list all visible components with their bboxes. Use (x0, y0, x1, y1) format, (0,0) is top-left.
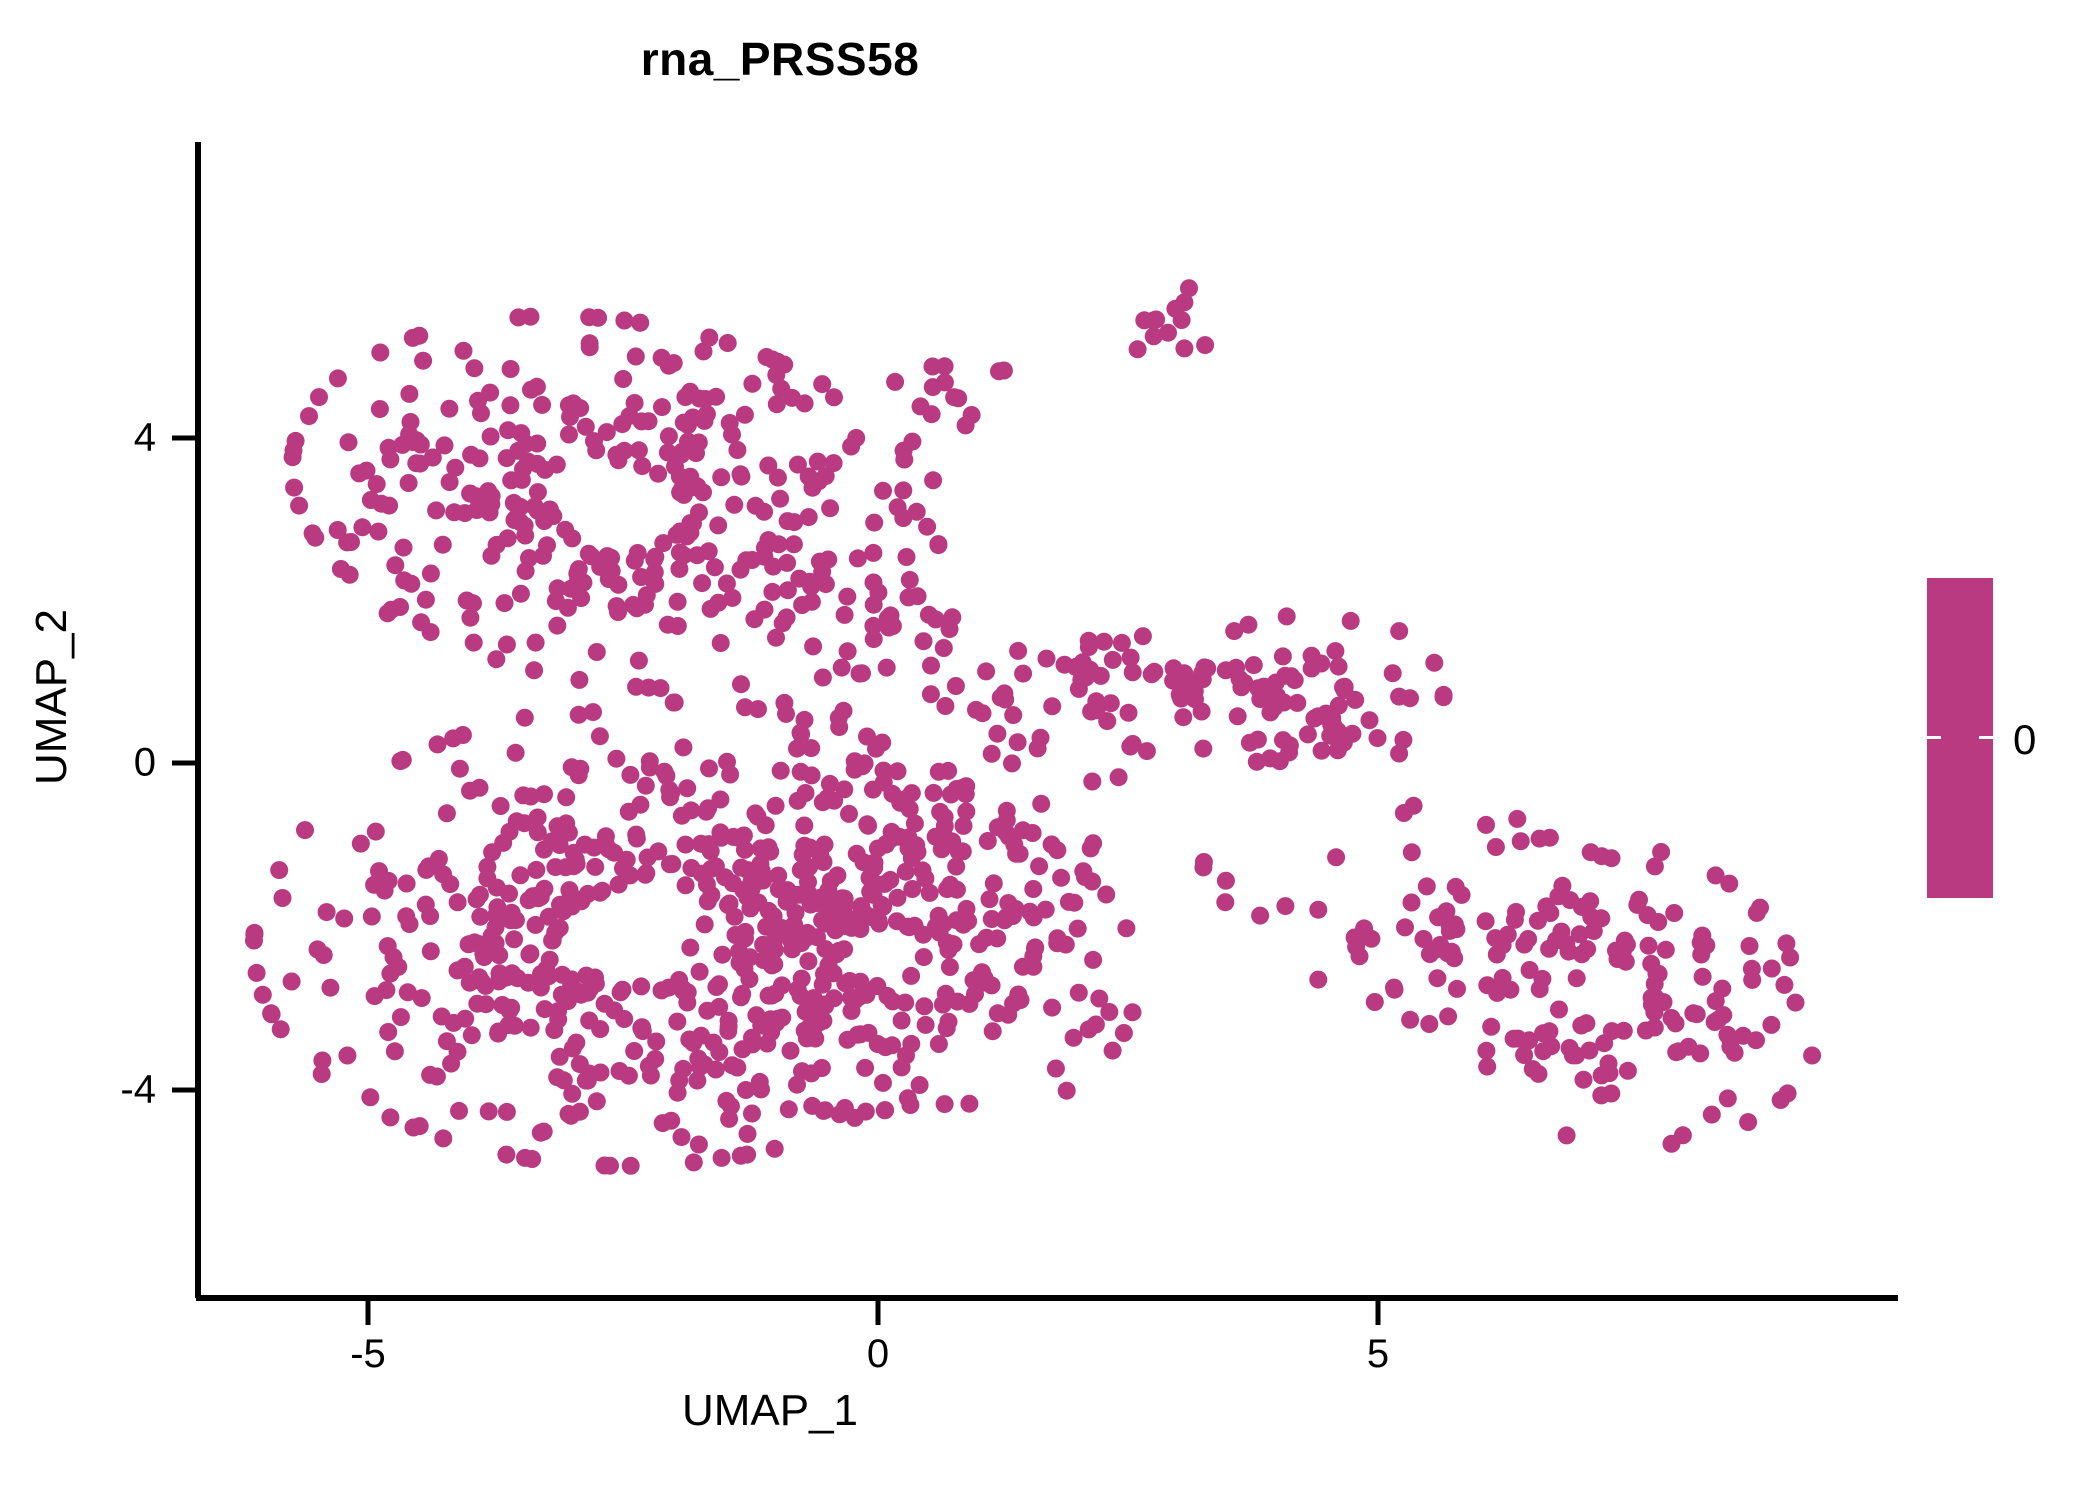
data-point (1488, 946, 1506, 964)
data-point (404, 433, 422, 451)
data-point (797, 1003, 815, 1021)
data-point (754, 872, 772, 890)
data-point (1229, 707, 1247, 725)
data-point (666, 694, 684, 712)
data-point (1124, 735, 1142, 753)
data-point (358, 462, 376, 480)
data-point (463, 1026, 481, 1044)
data-point (622, 1157, 640, 1175)
data-point (713, 946, 731, 964)
data-point (1619, 1062, 1637, 1080)
x-axis-title: UMAP_1 (0, 1386, 1540, 1436)
data-point (1425, 654, 1443, 672)
data-point (782, 1042, 800, 1060)
data-point (1582, 843, 1600, 861)
data-point (1012, 991, 1030, 1009)
data-point (1124, 663, 1142, 681)
data-point (394, 751, 412, 769)
data-point (1494, 969, 1512, 987)
data-point (470, 968, 488, 986)
data-point (1009, 642, 1027, 660)
data-point (464, 594, 482, 612)
data-point (1775, 976, 1793, 994)
data-point (699, 892, 717, 910)
data-point (615, 312, 633, 330)
data-point (856, 754, 874, 772)
data-point (1217, 872, 1235, 890)
data-point (709, 594, 727, 612)
data-point (739, 861, 757, 879)
data-point (1080, 1020, 1098, 1038)
data-point (1098, 712, 1116, 730)
data-point (940, 1013, 958, 1031)
data-point (977, 662, 995, 680)
data-point (503, 904, 521, 922)
data-point (1084, 834, 1102, 852)
data-point (586, 858, 604, 876)
data-point (696, 915, 714, 933)
x-tick-label: 0 (867, 1332, 889, 1377)
data-point (636, 866, 654, 884)
data-point (585, 839, 603, 857)
data-point (792, 725, 810, 743)
data-point (922, 657, 940, 675)
data-point (1336, 678, 1354, 696)
data-point (1052, 869, 1070, 887)
data-point (843, 1002, 861, 1020)
data-point (836, 917, 854, 935)
data-point (538, 536, 556, 554)
data-point (1343, 725, 1361, 743)
data-point (674, 1060, 692, 1078)
data-point (1575, 1071, 1593, 1089)
data-point (898, 548, 916, 566)
data-point (642, 1067, 660, 1085)
data-point (690, 503, 708, 521)
data-point (1572, 1017, 1590, 1035)
data-point (498, 1103, 516, 1121)
data-point (492, 797, 510, 815)
data-point (835, 940, 853, 958)
data-point (548, 1068, 566, 1086)
data-point (548, 456, 566, 474)
data-point (577, 418, 595, 436)
data-point (511, 866, 529, 884)
data-point (620, 1067, 638, 1085)
data-point (1558, 1126, 1576, 1144)
data-point (1303, 647, 1321, 665)
data-point (948, 881, 966, 899)
data-point (525, 661, 543, 679)
data-point (1113, 634, 1131, 652)
data-point (1477, 912, 1495, 930)
data-point (1369, 729, 1387, 747)
data-point (999, 1006, 1017, 1024)
data-point (1680, 1038, 1698, 1056)
data-point (395, 539, 413, 557)
data-point (756, 539, 774, 557)
data-point (1097, 886, 1115, 904)
data-point (1707, 866, 1725, 884)
data-point (505, 930, 523, 948)
data-point (632, 977, 650, 995)
data-point (500, 1016, 518, 1034)
data-point (487, 650, 505, 668)
data-point (605, 1001, 623, 1019)
data-point (633, 412, 651, 430)
data-point (1060, 893, 1078, 911)
data-point (455, 342, 473, 360)
data-point (924, 471, 942, 489)
data-point (814, 669, 832, 687)
data-point (896, 994, 914, 1012)
data-point (1288, 694, 1306, 712)
data-point (918, 518, 936, 536)
data-point (954, 916, 972, 934)
data-point (734, 1040, 752, 1058)
data-point (400, 385, 418, 403)
data-point (1549, 887, 1567, 905)
data-point (571, 399, 589, 417)
data-point (1601, 1064, 1619, 1082)
data-point (836, 606, 854, 624)
data-point (436, 436, 454, 454)
data-point (915, 948, 933, 966)
data-point (833, 659, 851, 677)
data-point (864, 617, 882, 635)
data-point (429, 735, 447, 753)
data-point (522, 381, 540, 399)
data-point (519, 974, 537, 992)
data-point (881, 871, 899, 889)
data-point (380, 439, 398, 457)
data-point (1361, 711, 1379, 729)
data-point (1396, 918, 1414, 936)
data-point (505, 494, 523, 512)
data-point (1714, 1006, 1732, 1024)
data-point (695, 342, 713, 360)
data-point (995, 362, 1013, 380)
data-point (1120, 704, 1138, 722)
data-point (694, 483, 712, 501)
data-point (1477, 1042, 1495, 1060)
data-point (410, 327, 428, 345)
data-point (856, 1059, 874, 1077)
data-point (984, 1022, 1002, 1040)
data-point (379, 937, 397, 955)
data-point (1646, 857, 1664, 875)
data-point (411, 455, 429, 473)
data-point (560, 1105, 578, 1123)
data-point (719, 334, 737, 352)
data-point (957, 416, 975, 434)
data-point (1245, 656, 1263, 674)
data-point (497, 969, 515, 987)
data-point (283, 973, 301, 991)
data-point (677, 836, 695, 854)
data-point (1674, 1126, 1692, 1144)
data-point (1282, 667, 1300, 685)
data-point (783, 940, 801, 958)
data-point (800, 468, 818, 486)
data-point (878, 659, 896, 677)
data-point (1174, 708, 1192, 726)
data-point (1248, 753, 1266, 771)
colorbar-legend[interactable]: 0 (1927, 578, 1993, 898)
data-point (1070, 984, 1088, 1002)
data-point (1595, 1034, 1613, 1052)
data-point (659, 444, 677, 462)
data-point (471, 908, 489, 926)
data-point (1482, 1018, 1500, 1036)
data-point (865, 596, 883, 614)
data-point (568, 855, 586, 873)
data-point (636, 596, 654, 614)
data-point (450, 1102, 468, 1120)
data-point (1196, 336, 1214, 354)
data-point (736, 923, 754, 941)
data-point (929, 535, 947, 553)
data-point (729, 829, 747, 847)
data-point (677, 876, 695, 894)
data-point (1144, 312, 1162, 330)
data-point (1043, 999, 1061, 1017)
data-point (1512, 832, 1530, 850)
data-point (371, 400, 389, 418)
data-point (633, 457, 651, 475)
data-point (1124, 1003, 1142, 1021)
data-point (1401, 689, 1419, 707)
data-point (800, 508, 818, 526)
data-point (379, 1023, 397, 1041)
data-point (1278, 607, 1296, 625)
colorbar-tick-left (1927, 736, 1941, 739)
data-point (693, 574, 711, 592)
data-point (417, 861, 435, 879)
data-point (482, 428, 500, 446)
data-point (1084, 951, 1102, 969)
data-point (710, 1043, 728, 1061)
data-point (915, 632, 933, 650)
data-point (488, 879, 506, 897)
data-point (864, 544, 882, 562)
data-point (739, 1125, 757, 1143)
data-point (1581, 892, 1599, 910)
data-point (369, 523, 387, 541)
data-point (988, 725, 1006, 743)
data-point (296, 821, 314, 839)
data-point (340, 433, 358, 451)
data-point (840, 805, 858, 823)
data-point (335, 910, 353, 928)
data-point (591, 727, 609, 745)
data-point (626, 552, 644, 570)
data-point (533, 396, 551, 414)
data-point (1038, 650, 1056, 668)
data-point (1403, 843, 1421, 861)
data-point (627, 826, 645, 844)
data-point (671, 523, 689, 541)
data-point (679, 983, 697, 1001)
data-point (812, 889, 830, 907)
data-point (700, 835, 718, 853)
data-point (1004, 706, 1022, 724)
data-point (502, 360, 520, 378)
data-point (897, 1046, 915, 1064)
data-point (674, 738, 692, 756)
data-point (548, 617, 566, 635)
data-point (588, 643, 606, 661)
data-point (570, 706, 588, 724)
data-point (1330, 658, 1348, 676)
data-point (614, 370, 632, 388)
data-point (669, 593, 687, 611)
data-point (444, 729, 462, 747)
data-point (434, 1129, 452, 1147)
data-point (1346, 929, 1364, 947)
data-point (874, 482, 892, 500)
data-point (947, 677, 965, 695)
data-point (547, 592, 565, 610)
data-point (498, 636, 516, 654)
data-point (1405, 797, 1423, 815)
data-point (499, 421, 517, 439)
data-point (925, 784, 943, 802)
data-point (386, 556, 404, 574)
data-point (338, 1047, 356, 1065)
data-point (941, 958, 959, 976)
data-point (894, 481, 912, 499)
data-point (825, 454, 843, 472)
data-point (1420, 1015, 1438, 1033)
data-point (501, 396, 519, 414)
data-point (625, 1042, 643, 1060)
data-point (673, 480, 691, 498)
data-point (559, 992, 577, 1010)
data-point (670, 560, 688, 578)
data-point (366, 987, 384, 1005)
data-point (456, 1010, 474, 1028)
data-point (1390, 622, 1408, 640)
data-point (496, 594, 514, 612)
data-point (809, 453, 827, 471)
data-point (1159, 324, 1177, 342)
data-point (649, 465, 667, 483)
data-point (943, 608, 961, 626)
data-point (712, 634, 730, 652)
data-point (332, 560, 350, 578)
data-point (471, 779, 489, 797)
data-point (1276, 897, 1294, 915)
data-point (738, 1146, 756, 1164)
data-point (849, 549, 867, 567)
data-point (869, 1035, 887, 1053)
data-point (1508, 810, 1526, 828)
data-point (367, 823, 385, 841)
data-point (1070, 680, 1088, 698)
data-point (1781, 949, 1799, 967)
data-point (516, 709, 534, 727)
y-axis-title: UMAP_2 (27, 417, 77, 977)
data-point (1531, 980, 1549, 998)
data-point (825, 388, 843, 406)
data-point (627, 348, 645, 366)
data-point (841, 972, 859, 990)
data-point (1145, 663, 1163, 681)
data-point (1058, 1082, 1076, 1100)
data-point (751, 1073, 769, 1091)
data-point (1322, 706, 1340, 724)
data-point (512, 585, 530, 603)
data-point (475, 948, 493, 966)
data-point (529, 823, 547, 841)
data-point (709, 516, 727, 534)
data-point (1309, 901, 1327, 919)
data-point (763, 583, 781, 601)
data-point (1037, 901, 1055, 919)
data-point (587, 975, 605, 993)
data-point (900, 588, 918, 606)
data-point (814, 1012, 832, 1030)
data-point (983, 745, 1001, 763)
data-point (958, 900, 976, 918)
data-point (1721, 1030, 1739, 1048)
data-point (626, 394, 644, 412)
data-point (936, 373, 954, 391)
data-point (1115, 1024, 1133, 1042)
data-point (710, 975, 728, 993)
data-point (517, 435, 535, 453)
data-point (610, 876, 628, 894)
data-point (1560, 943, 1578, 961)
data-point (939, 762, 957, 780)
data-point (1665, 904, 1683, 922)
data-point (769, 469, 787, 487)
data-point (1552, 923, 1570, 941)
data-point (745, 610, 763, 628)
data-point (765, 907, 783, 925)
data-point (1032, 795, 1050, 813)
data-point (545, 1021, 563, 1039)
data-point (772, 380, 790, 398)
data-point (804, 637, 822, 655)
data-point (690, 1136, 708, 1154)
data-point (720, 1018, 738, 1036)
data-point (724, 874, 742, 892)
data-point (520, 946, 538, 964)
axis-lines (196, 142, 1898, 1298)
data-point (570, 671, 588, 689)
data-point (381, 1108, 399, 1126)
data-point (998, 802, 1016, 820)
colorbar-tick-right (1979, 736, 1993, 739)
data-point (1401, 1011, 1419, 1029)
data-point (482, 547, 500, 565)
data-point (693, 865, 711, 883)
data-point (681, 939, 699, 957)
data-point (627, 678, 645, 696)
data-point (1478, 1058, 1496, 1076)
data-point (318, 903, 336, 921)
data-point (1117, 919, 1135, 937)
data-point (652, 679, 670, 697)
data-point (1024, 880, 1042, 898)
data-point (1741, 937, 1759, 955)
data-point (1640, 937, 1658, 955)
data-point (285, 479, 303, 497)
data-point (649, 842, 667, 860)
data-point (1607, 942, 1625, 960)
